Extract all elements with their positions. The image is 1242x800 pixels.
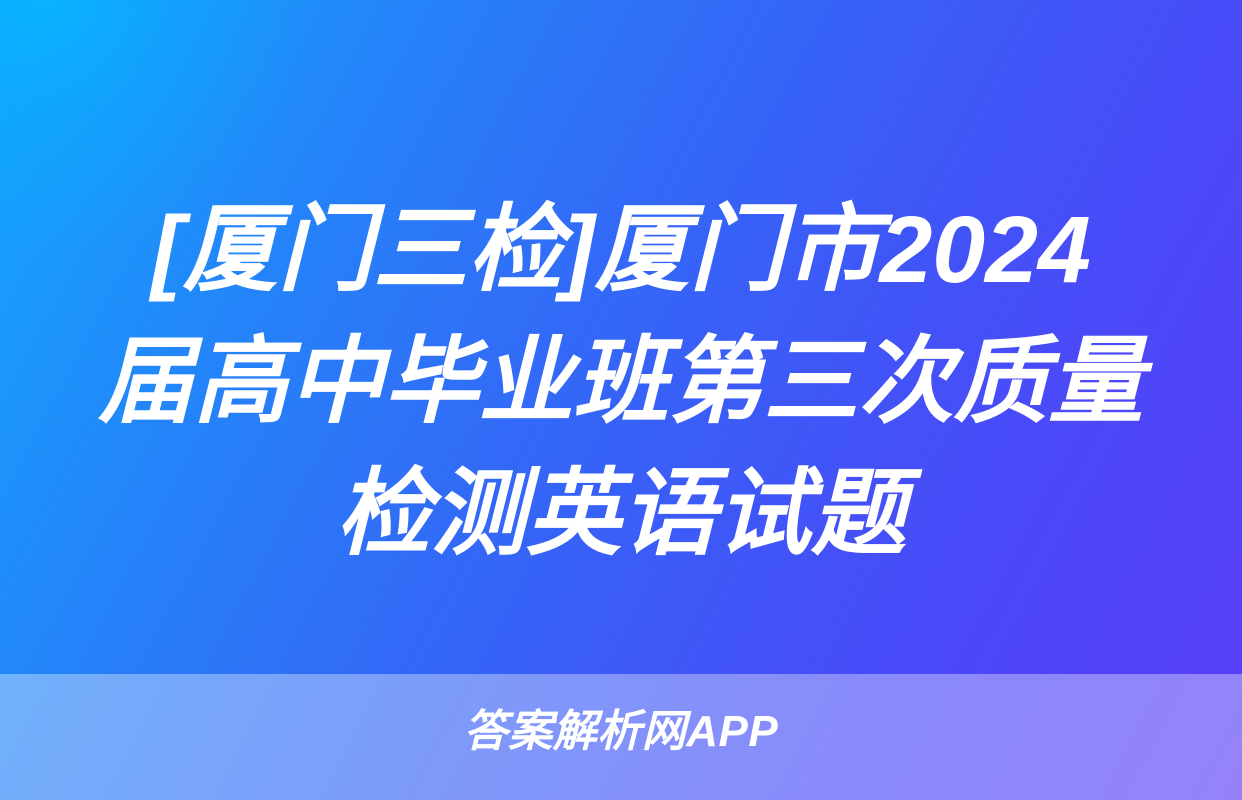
- page-title: [厦门三检]厦门市2024 届高中毕业班第三次质量 检测英语试题: [0, 184, 1242, 580]
- title-line-2: 届高中毕业班第三次质量: [58, 316, 1184, 448]
- app-watermark: 答案解析网APP: [0, 705, 1242, 759]
- title-line-1: [厦门三检]厦门市2024: [58, 184, 1184, 316]
- title-card: [厦门三检]厦门市2024 届高中毕业班第三次质量 检测英语试题 答案解析网AP…: [0, 0, 1242, 800]
- title-line-3: 检测英语试题: [58, 448, 1184, 580]
